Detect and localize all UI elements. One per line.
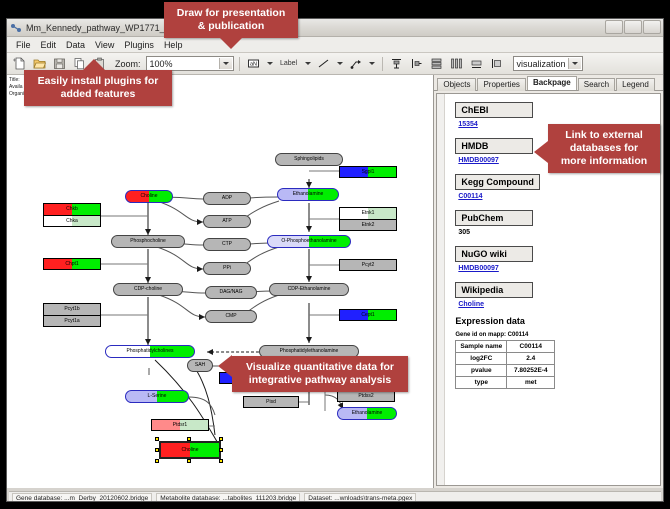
- table-row: log2FC 2.4: [456, 353, 555, 365]
- menu-edit[interactable]: Edit: [36, 39, 62, 51]
- pathway-connectors: [7, 75, 434, 488]
- table-row: pvalue 7.80252E-4: [456, 365, 555, 377]
- backpage-scrollbar[interactable]: [437, 94, 445, 485]
- pathvisio-icon: [10, 22, 22, 34]
- selection-handle-se[interactable]: [219, 459, 223, 463]
- callout-plugins-line2: added features: [32, 88, 164, 101]
- callout-draw: Draw for presentation & publication: [164, 2, 298, 38]
- expr-label-sample-name: Sample name: [456, 341, 507, 353]
- status-dataset: Dataset: ...wnloads\trans-meta.pgex: [304, 493, 416, 503]
- node-o-phosphoethanolamine[interactable]: O-Phosphoethanolamine: [267, 235, 351, 248]
- db-link-wikipedia[interactable]: Choline: [458, 301, 652, 308]
- toolbar-separator-2: [382, 57, 383, 71]
- menu-file[interactable]: File: [11, 39, 36, 51]
- table-row: Sample name C00114: [456, 341, 555, 353]
- side-panel-tabs: Objects Properties Backpage Search Legen…: [434, 75, 663, 91]
- callout-visualize-pointer: [218, 355, 232, 377]
- expr-value-type: met: [507, 377, 555, 389]
- align-top-button[interactable]: [388, 55, 406, 73]
- db-header-nugo-wiki: NuGO wiki: [455, 246, 533, 262]
- svg-text:aN: aN: [250, 61, 257, 67]
- status-bar-container: Gene database: ...m_Derby_20120602.bridg…: [7, 488, 663, 502]
- expression-data-title: Expression data: [455, 316, 652, 326]
- node-choline-selected[interactable]: Choline: [159, 441, 221, 459]
- common-height-button[interactable]: [488, 55, 506, 73]
- zoom-combobox[interactable]: 100%: [146, 56, 234, 71]
- callout-links-pointer: [534, 141, 548, 163]
- expr-value-pvalue: 7.80252E-4: [507, 365, 555, 377]
- menu-plugins[interactable]: Plugins: [119, 39, 159, 51]
- distribute-button[interactable]: [448, 55, 466, 73]
- node-ethanolamine-bottom[interactable]: Ethanolamine: [337, 407, 397, 420]
- visualization-combobox[interactable]: visualization: [513, 56, 583, 71]
- gene-id-line: Gene id on mapp: C00114: [455, 332, 652, 338]
- gene-cept1[interactable]: Cept1: [339, 309, 397, 321]
- callout-draw-line2: & publication: [172, 20, 290, 33]
- db-link-nugo-wiki[interactable]: HMDB00097: [458, 265, 652, 272]
- expr-value-log2fc: 2.4: [507, 353, 555, 365]
- node-ethanolamine-top[interactable]: Ethanolamine: [277, 188, 339, 201]
- label-button-text: Label: [280, 60, 297, 67]
- status-bar: Gene database: ...m_Derby_20120602.bridg…: [9, 491, 661, 503]
- window-controls[interactable]: [605, 20, 661, 34]
- callout-plugins-line1: Easily install plugins for: [32, 75, 164, 88]
- selection-handle-n[interactable]: [187, 437, 191, 441]
- selection-handle-ne[interactable]: [219, 437, 223, 441]
- callout-links-line2: databases for: [556, 142, 652, 155]
- minimize-button[interactable]: [605, 20, 623, 34]
- db-header-chebi: ChEBI: [455, 102, 533, 118]
- interaction-button[interactable]: [347, 55, 365, 73]
- label-button[interactable]: Label: [277, 55, 301, 73]
- toolbar-separator: [239, 57, 240, 71]
- db-header-wikipedia: Wikipedia: [455, 282, 533, 298]
- node-sphingolipids[interactable]: Sphingolipids: [275, 153, 343, 166]
- callout-visualize: Visualize quantitative data for integrat…: [232, 356, 408, 392]
- tab-objects[interactable]: Objects: [437, 78, 476, 91]
- gene-chka[interactable]: Chka: [43, 215, 101, 227]
- line-button[interactable]: [315, 55, 333, 73]
- selection-handle-s[interactable]: [187, 459, 191, 463]
- node-phosphatidylcholines[interactable]: Phosphatidylcholines: [105, 345, 195, 358]
- db-value-pubchem: 305: [458, 229, 652, 236]
- label-chevron-down-icon[interactable]: [303, 55, 313, 73]
- data-node-button[interactable]: aN: [245, 55, 263, 73]
- node-cmp[interactable]: CMP: [205, 310, 257, 323]
- node-atp[interactable]: ATP: [203, 215, 251, 228]
- gene-etnk1[interactable]: Etnk1: [339, 207, 397, 219]
- expression-table: Sample name C00114 log2FC 2.4 pvalue 7.8…: [455, 340, 555, 389]
- selection-handle-e[interactable]: [219, 448, 223, 452]
- node-cdp-ethanolamine[interactable]: CDP-Ethanolamine: [269, 283, 349, 296]
- db-header-pubchem: PubChem: [455, 210, 533, 226]
- node-choline[interactable]: Choline: [125, 190, 173, 203]
- gene-chkb[interactable]: Chkb: [43, 203, 101, 215]
- gene-ptdsr1[interactable]: Ptdsr1: [151, 419, 209, 431]
- align-left-button[interactable]: [408, 55, 426, 73]
- tab-properties[interactable]: Properties: [477, 78, 525, 91]
- callout-visualize-line1: Visualize quantitative data for: [240, 361, 400, 374]
- callout-visualize-line2: integrative pathway analysis: [240, 374, 400, 387]
- node-ctp[interactable]: CTP: [203, 238, 251, 251]
- stack-vertical-button[interactable]: [428, 55, 446, 73]
- callout-links-line3: more information: [556, 155, 652, 168]
- zoom-label: Zoom:: [115, 59, 141, 69]
- menu-bar: File Edit Data View Plugins Help: [7, 37, 663, 53]
- gene-chpt1[interactable]: Chpt1: [43, 258, 101, 270]
- callout-plugins: Easily install plugins for added feature…: [24, 70, 172, 106]
- tab-backpage[interactable]: Backpage: [527, 76, 577, 90]
- gene-pcyt1b[interactable]: Pcyt1b: [43, 303, 101, 315]
- expr-label-pvalue: pvalue: [456, 365, 507, 377]
- callout-draw-pointer: [220, 38, 242, 49]
- menu-help[interactable]: Help: [159, 39, 188, 51]
- db-link-kegg-compound[interactable]: C00114: [458, 193, 652, 200]
- maximize-button[interactable]: [624, 20, 642, 34]
- data-node-chevron-down-icon[interactable]: [265, 55, 275, 73]
- db-header-kegg-compound: Kegg Compound: [455, 174, 540, 190]
- expr-label-type: type: [456, 377, 507, 389]
- gene-sgpl1[interactable]: Sgpl1: [339, 166, 397, 178]
- visualization-value: visualization: [517, 59, 566, 69]
- db-header-hmdb: HMDB: [455, 138, 533, 154]
- gene-pcyt1a[interactable]: Pcyt1a: [43, 315, 101, 327]
- callout-draw-line1: Draw for presentation: [172, 7, 290, 20]
- callout-plugins-pointer: [83, 59, 105, 70]
- gene-pisd[interactable]: Pisd: [243, 396, 299, 408]
- zoom-value: 100%: [150, 59, 173, 69]
- node-ppi[interactable]: PPi: [203, 262, 251, 275]
- share-banner-text: Share on Wikipathways.org: [32, 487, 318, 488]
- selection-handle-sw[interactable]: [155, 459, 159, 463]
- menu-data[interactable]: Data: [61, 39, 90, 51]
- line-chevron-down-icon[interactable]: [335, 55, 345, 73]
- interaction-chevron-down-icon[interactable]: [367, 55, 377, 73]
- menu-view[interactable]: View: [90, 39, 119, 51]
- node-phosphocholine[interactable]: Phosphocholine: [111, 235, 185, 248]
- callout-links-line1: Link to external: [556, 129, 652, 142]
- node-sah[interactable]: SAH: [187, 359, 213, 372]
- chevron-down-icon[interactable]: [219, 58, 232, 69]
- visualization-chevron-down-icon[interactable]: [568, 58, 581, 69]
- status-metabolite-database: Metabolite database: ...tabolites_111203…: [156, 493, 300, 503]
- selection-handle-w[interactable]: [155, 448, 159, 452]
- node-dag-nag[interactable]: DAG/NAG: [205, 286, 257, 299]
- node-adp[interactable]: ADP: [203, 192, 251, 205]
- table-row: type met: [456, 377, 555, 389]
- pathway-canvas[interactable]: Title: Availa Organi: [7, 75, 434, 488]
- gene-etnk2[interactable]: Etnk2: [339, 219, 397, 231]
- callout-links: Link to external databases for more info…: [548, 124, 660, 173]
- node-cdp-choline[interactable]: CDP-choline: [113, 283, 183, 296]
- close-button[interactable]: [643, 20, 661, 34]
- expr-value-sample-name: C00114: [507, 341, 555, 353]
- selection-handle-nw[interactable]: [155, 437, 159, 441]
- title-bar: Mm_Kennedy_pathway_WP1771_45176.gpml: [7, 19, 663, 37]
- tab-search[interactable]: Search: [578, 78, 615, 91]
- expr-label-log2fc: log2FC: [456, 353, 507, 365]
- tab-legend[interactable]: Legend: [616, 78, 655, 91]
- common-width-button[interactable]: [468, 55, 486, 73]
- status-gene-database: Gene database: ...m_Derby_20120602.bridg…: [12, 493, 152, 503]
- node-l-serine-left[interactable]: L-Serine: [125, 390, 189, 403]
- gene-pcyt2[interactable]: Pcyt2: [339, 259, 397, 271]
